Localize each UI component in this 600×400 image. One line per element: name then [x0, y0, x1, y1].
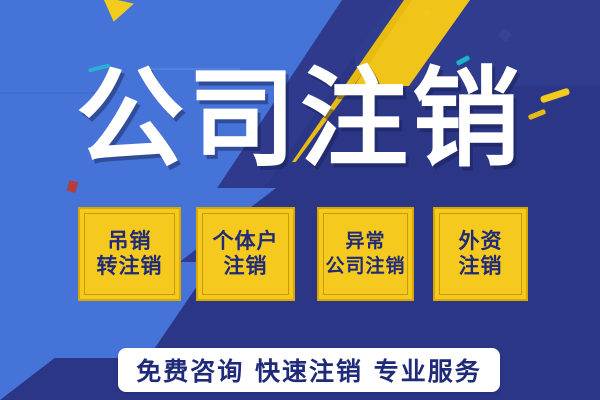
promo-poster: 公司注销 吊销 转注销 个体户 注销 异常 公司注销 外资 注销 免费咨询 快速…	[0, 0, 600, 400]
badge-waizi[interactable]: 外资 注销	[433, 207, 528, 301]
footer-text: 免费咨询 快速注销 专业服务	[136, 352, 481, 388]
badge-label: 吊销 转注销	[97, 229, 163, 279]
badge-getihu[interactable]: 个体户 注销	[196, 207, 295, 301]
page-title: 公司注销	[0, 66, 600, 174]
badge-diaoxiao[interactable]: 吊销 转注销	[78, 207, 181, 301]
badge-label: 外资 注销	[459, 229, 503, 279]
badge-yichang[interactable]: 异常 公司注销	[317, 207, 414, 301]
footer-bar[interactable]: 免费咨询 快速注销 专业服务	[118, 348, 500, 392]
badge-label: 异常 公司注销	[325, 229, 405, 279]
badge-label: 个体户 注销	[213, 229, 279, 279]
badge-row: 吊销 转注销 个体户 注销 异常 公司注销 外资 注销	[0, 207, 600, 303]
